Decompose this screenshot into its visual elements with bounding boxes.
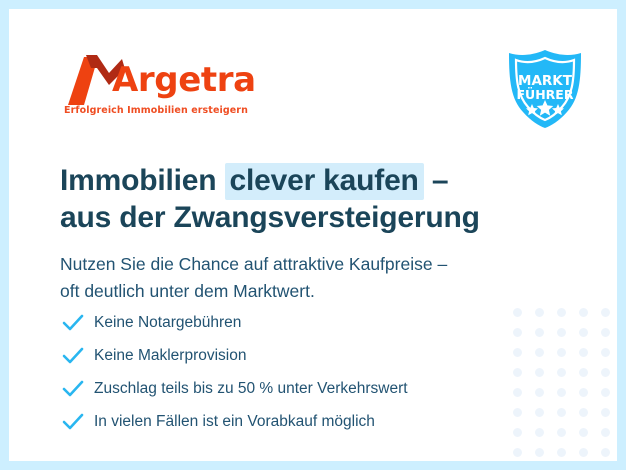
subheading: Nutzen Sie die Chance auf attraktive Kau…: [60, 251, 540, 305]
decorative-dot: [579, 408, 588, 417]
decorative-dot: [601, 388, 610, 397]
subheading-line2: oft deutlich unter dem Marktwert.: [60, 281, 315, 301]
decorative-dot: [557, 328, 566, 337]
decorative-dot: [579, 308, 588, 317]
decorative-dot: [579, 388, 588, 397]
list-item: Keine Maklerprovision: [61, 339, 531, 372]
decorative-dot: [579, 348, 588, 357]
decorative-dot: [601, 448, 610, 457]
headline-highlight: clever kaufen: [225, 163, 424, 200]
list-item: Zuschlag teils bis zu 50 % unter Verkehr…: [61, 372, 531, 405]
headline-line1-suffix: –: [424, 164, 449, 197]
decorative-dot: [579, 448, 588, 457]
decorative-dot: [579, 428, 588, 437]
decorative-dot: [557, 308, 566, 317]
decorative-dot: [601, 428, 610, 437]
headline-line1-prefix: Immobilien: [60, 164, 225, 197]
check-icon: [61, 412, 85, 432]
list-item: Keine Notargebühren: [61, 306, 531, 339]
decorative-dot: [601, 408, 610, 417]
decorative-dot: [535, 368, 544, 377]
decorative-dot: [601, 348, 610, 357]
decorative-dot: [557, 388, 566, 397]
feature-label: Zuschlag teils bis zu 50 % unter Verkehr…: [94, 379, 408, 399]
check-icon: [61, 313, 85, 333]
decorative-dot: [557, 428, 566, 437]
decorative-dot: [535, 328, 544, 337]
argetra-logo: Argetra Erfolgreich Immobilien ersteiger…: [64, 53, 244, 125]
subheading-line1: Nutzen Sie die Chance auf attraktive Kau…: [60, 254, 447, 274]
decorative-dot: [535, 348, 544, 357]
check-icon: [61, 379, 85, 399]
decorative-dot: [535, 448, 544, 457]
decorative-dot: [601, 368, 610, 377]
decorative-dot: [557, 368, 566, 377]
decorative-dot: [579, 368, 588, 377]
badge-line-2: FÜHRER: [517, 87, 574, 102]
list-item: In vielen Fällen ist ein Vorabkauf mögli…: [61, 405, 531, 438]
feature-label: In vielen Fällen ist ein Vorabkauf mögli…: [94, 412, 375, 432]
card-surface: Argetra Erfolgreich Immobilien ersteiger…: [9, 9, 617, 461]
market-leader-badge: MARKT FÜHRER: [503, 47, 587, 131]
decorative-dot: [535, 308, 544, 317]
decorative-dot: [601, 308, 610, 317]
decorative-dot: [557, 408, 566, 417]
decorative-dot: [513, 448, 522, 457]
logo-tagline: Erfolgreich Immobilien ersteigern: [64, 105, 248, 116]
decorative-dot: [557, 448, 566, 457]
headline: Immobilien clever kaufen –aus der Zwangs…: [60, 162, 560, 236]
decorative-dot: [535, 408, 544, 417]
feature-list: Keine Notargebühren Keine Maklerprovisio…: [61, 306, 531, 438]
feature-label: Keine Notargebühren: [94, 313, 241, 333]
decorative-dot: [579, 328, 588, 337]
decorative-dot: [557, 348, 566, 357]
logo-wordmark: Argetra: [112, 60, 256, 100]
promo-banner: Argetra Erfolgreich Immobilien ersteiger…: [0, 0, 626, 470]
decorative-dot: [535, 388, 544, 397]
check-icon: [61, 346, 85, 366]
headline-line2: aus der Zwangsversteigerung: [60, 201, 480, 234]
decorative-dot: [601, 328, 610, 337]
decorative-dot: [535, 428, 544, 437]
feature-label: Keine Maklerprovision: [94, 346, 247, 366]
